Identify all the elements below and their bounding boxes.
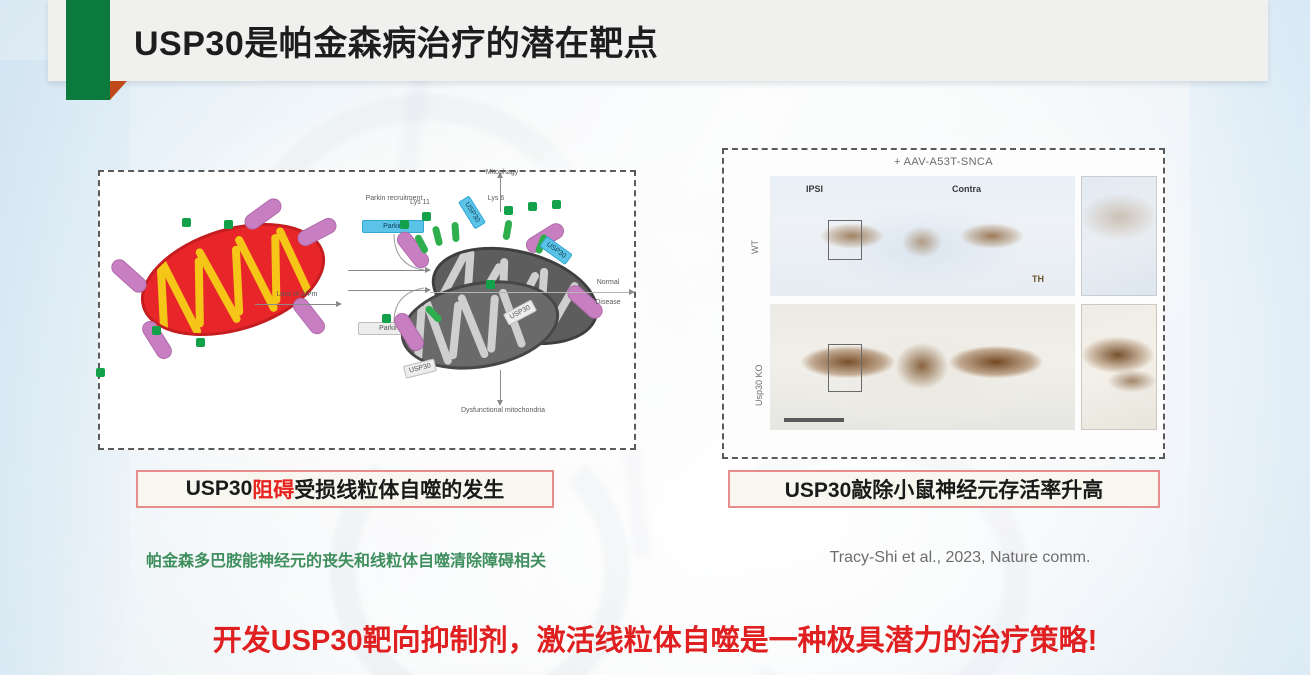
ihc-image-ko bbox=[770, 304, 1075, 430]
caption-left: USP30阻碍受损线粒体自噬的发生 bbox=[136, 470, 554, 508]
ubiquitin-chain bbox=[451, 222, 459, 242]
accent-triangle-icon bbox=[110, 81, 127, 100]
ubiquitin-dot bbox=[528, 202, 537, 211]
loss-of-mmp-label: Loss of ΔΨm bbox=[252, 290, 342, 299]
normal-label: Normal bbox=[586, 278, 630, 287]
usp30-chip-grey: USP30 bbox=[403, 358, 437, 378]
ihc-image-wt: IPSI Contra TH bbox=[770, 176, 1075, 296]
ubiquitin-chain bbox=[432, 225, 444, 246]
page-title: USP30是帕金森病治疗的潜在靶点 bbox=[134, 16, 658, 65]
ubiquitin-dot bbox=[196, 338, 205, 347]
ihc-inset-wt bbox=[1081, 176, 1157, 296]
citation-right: Tracy-Shi et al., 2023, Nature comm. bbox=[770, 549, 1150, 567]
dysfunctional-mitochondria-label: Dysfunctional mitochondria bbox=[460, 406, 546, 415]
ubiquitin-chain bbox=[502, 220, 512, 241]
row-label-wt: WT bbox=[750, 240, 760, 254]
ubiquitin-dot bbox=[182, 218, 191, 227]
ubiquitin-dot bbox=[96, 368, 105, 377]
mitophagy-label: Mitophagy bbox=[468, 168, 536, 177]
slide-root: USP30是帕金森病治疗的潜在靶点 bbox=[0, 0, 1310, 675]
lys6-label: Lys 6 bbox=[478, 194, 514, 203]
loss-arrow bbox=[255, 304, 337, 305]
roi-box bbox=[828, 344, 862, 392]
right-figure-header: + AAV-A53T-SNCA bbox=[724, 156, 1163, 168]
panel-label-ipsi: IPSI bbox=[806, 184, 823, 194]
top-branch-arrow bbox=[348, 270, 426, 271]
ubiquitin-dot bbox=[400, 220, 409, 229]
ubiquitin-dot bbox=[486, 280, 495, 289]
panel-label-contra: Contra bbox=[952, 184, 981, 194]
left-figure-panel: Loss of ΔΨm Parkin recruitment Parkin Pa… bbox=[98, 170, 636, 450]
ihc-inset-ko bbox=[1081, 304, 1157, 430]
mitophagy-arrow bbox=[500, 178, 501, 212]
ubiquitin-dot bbox=[552, 200, 561, 209]
right-figure-panel: + AAV-A53T-SNCA WT Usp30 KO IPSI Contra … bbox=[722, 148, 1165, 459]
caption-left-highlight: 阻碍 bbox=[252, 474, 294, 504]
scale-bar bbox=[784, 418, 844, 422]
accent-bar bbox=[66, 0, 110, 100]
roi-box bbox=[828, 220, 862, 260]
caption-left-prefix: USP30 bbox=[186, 477, 253, 501]
ubiquitin-dot bbox=[504, 206, 513, 215]
caption-right-text: USP30敲除小鼠神经元存活率升高 bbox=[785, 474, 1104, 504]
caption-right: USP30敲除小鼠神经元存活率升高 bbox=[728, 470, 1160, 508]
row-label-ko: Usp30 KO bbox=[754, 364, 764, 406]
subcaption-left: 帕金森多巴胺能神经元的丧失和线粒体自噬清除障碍相关 bbox=[66, 547, 626, 571]
rod-shape bbox=[290, 295, 328, 338]
ubiquitin-dot bbox=[152, 326, 161, 335]
dysfunctional-arrow bbox=[500, 370, 501, 400]
bottom-branch-arrow bbox=[348, 290, 426, 291]
disease-label: Disease bbox=[586, 298, 630, 307]
outcome-divider-normal bbox=[430, 292, 630, 293]
lys11-label: Lys 11 bbox=[400, 198, 440, 207]
conclusion-text: 开发USP30靶向抑制剂，激活线粒体自噬是一种极具潜力的治疗策略! bbox=[0, 617, 1310, 659]
ubiquitin-dot bbox=[422, 212, 431, 221]
caption-left-suffix: 受损线粒体自噬的发生 bbox=[294, 474, 504, 504]
stain-label-th: TH bbox=[1032, 274, 1044, 284]
ubiquitin-dot bbox=[382, 314, 391, 323]
ubiquitin-dot bbox=[224, 220, 233, 229]
rod-shape bbox=[108, 256, 150, 296]
